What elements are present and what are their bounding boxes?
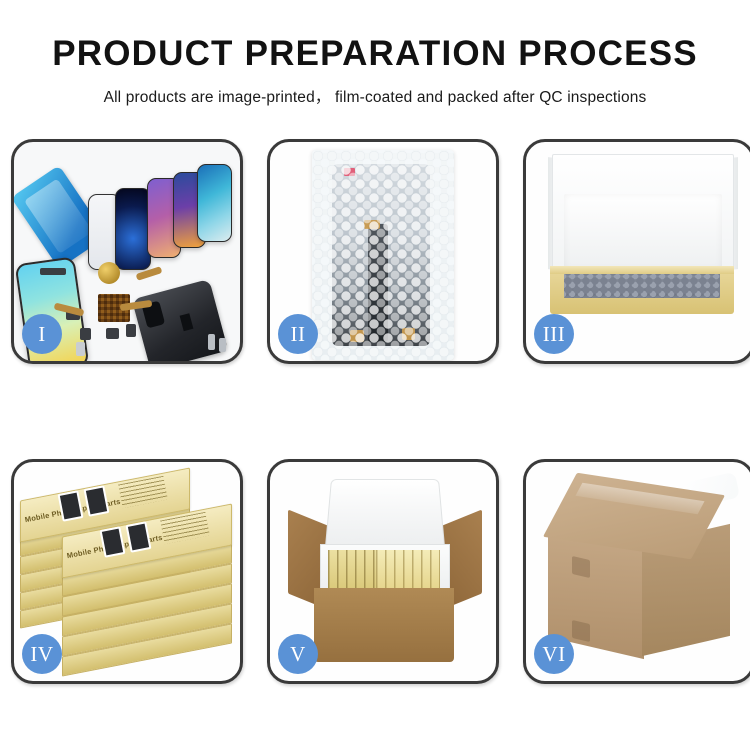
kraft-box-rim: [550, 266, 734, 274]
carton-tab-upper: [572, 556, 590, 578]
small-part-speaker-mesh: [40, 268, 66, 275]
page-subtitle: All products are image-printed， film-coa…: [0, 85, 750, 107]
screw-icon-a: [208, 334, 215, 350]
step-panel-3: III: [523, 139, 750, 364]
small-part-camera-module: [126, 324, 136, 337]
page-title: PRODUCT PREPARATION PROCESS: [0, 36, 750, 73]
bubble-wrap-overlay: [312, 150, 454, 360]
steps-grid: I II: [11, 139, 739, 684]
header: PRODUCT PREPARATION PROCESS All products…: [0, 0, 750, 107]
screw-icon-b: [219, 338, 226, 352]
step-badge-3: III: [534, 314, 574, 354]
step-panel-6: VI: [523, 459, 750, 684]
step-badge-6: VI: [534, 634, 574, 674]
carton-body: [314, 588, 454, 662]
step-panel-1: I: [11, 139, 243, 364]
step-badge-4: IV: [22, 634, 62, 674]
step-badge-2: II: [278, 314, 318, 354]
phone-screen-cyan-wave: [197, 164, 232, 242]
step-badge-1: I: [22, 314, 62, 354]
step-panel-4: Mobile Phone Spare Parts Mobile Phone Sp…: [11, 459, 243, 684]
phone-screen-blue-wallpaper: [115, 188, 151, 270]
step-panel-5: V: [267, 459, 499, 684]
foam-lid: [325, 479, 446, 551]
small-part-connector-b: [80, 328, 91, 340]
small-part-battery-tab: [76, 342, 85, 356]
small-part-connector-c: [106, 328, 119, 339]
packed-yellow-boxes-right: [376, 550, 440, 588]
vibration-motor-part-icon: [98, 262, 120, 284]
step-panel-2: II: [267, 139, 499, 364]
step-badge-5: V: [278, 634, 318, 674]
product-preparation-infographic: PRODUCT PREPARATION PROCESS All products…: [0, 0, 750, 750]
carton-tab-lower: [572, 620, 590, 642]
white-foam-sheet: [564, 194, 722, 270]
